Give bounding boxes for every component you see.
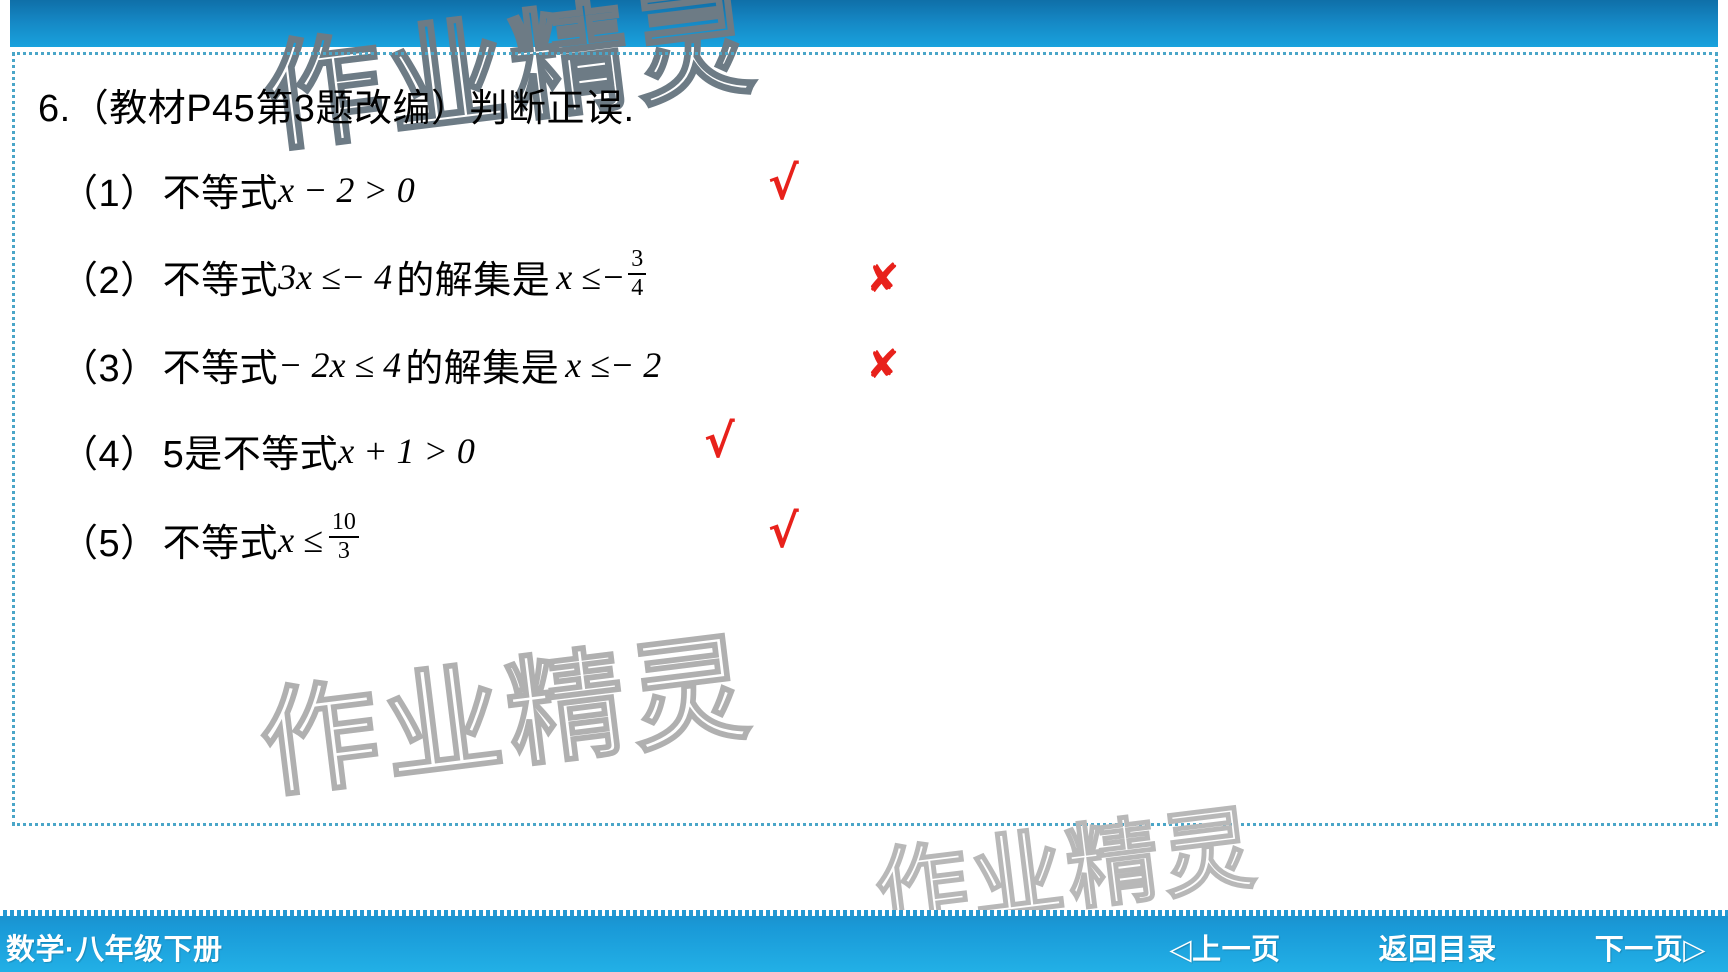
item-3-mark-cross-icon: ✘: [866, 342, 900, 388]
item-3-answer: x ≤− 2: [565, 344, 661, 386]
item-1-math: x − 2 > 0: [278, 169, 415, 211]
next-page-button[interactable]: 下一页▷: [1595, 926, 1706, 968]
item-5-chinese-before: 不等式: [163, 512, 279, 567]
item-3-label: （3）: [60, 337, 159, 392]
top-bar-left-edge: [0, 0, 10, 47]
item-4-mark-check-icon: √: [704, 414, 735, 468]
item-4-label: （4）: [60, 423, 159, 478]
item-1-chinese: 不等式: [163, 162, 279, 217]
item-1-mark-check-icon: √: [768, 156, 799, 210]
top-bar-right-edge: [1718, 0, 1728, 47]
item-2-answer: x ≤−: [556, 256, 625, 298]
item-4-chinese-before: 5是不等式: [163, 423, 339, 478]
back-to-toc-button[interactable]: 返回目录: [1379, 926, 1497, 968]
book-title: 数学·八年级下册: [6, 926, 223, 968]
item-2-chinese-after: 的解集是: [396, 249, 550, 304]
item-5-fraction-numerator: 10: [329, 510, 359, 536]
item-3-chinese-after: 的解集是: [405, 337, 559, 392]
item-3-chinese-before: 不等式: [163, 337, 279, 392]
item-5-math: x ≤: [278, 519, 323, 561]
question-item-3: （3） 不等式 − 2x ≤ 4 的解集是 x ≤− 2 ✘: [26, 322, 1718, 408]
bottom-navigation-bar: 数学·八年级下册 ◁上一页 返回目录 下一页▷: [0, 910, 1728, 972]
question-title: 6.（教材P45第3题改编）判断正误.: [26, 86, 1718, 134]
item-2-math: 3x ≤− 4: [278, 256, 392, 298]
slide-root: 作业精灵 6.（教材P45第3题改编）判断正误. （1） 不等式 x − 2 >…: [0, 0, 1728, 972]
item-2-mark-cross-icon: ✘: [866, 256, 900, 302]
question-item-1: （1） 不等式 x − 2 > 0 √: [26, 148, 1718, 232]
item-2-fraction-denominator: 4: [628, 273, 646, 302]
question-item-2: （2） 不等式 3x ≤− 4 的解集是 x ≤− 3 4 ✘: [26, 232, 1718, 322]
bottom-bar-dotted-edge: [0, 910, 1728, 916]
item-2-label: （2）: [60, 249, 159, 304]
question-item-5: （5） 不等式 x ≤ 10 3 √: [26, 494, 1718, 586]
top-header-bar: [0, 0, 1728, 47]
item-5-label: （5）: [60, 512, 159, 567]
item-5-mark-check-icon: √: [768, 504, 799, 558]
item-5-fraction-denominator: 3: [329, 536, 359, 565]
question-item-4: （4） 5是不等式 x + 1 > 0 √: [26, 408, 1718, 494]
item-5-fraction: 10 3: [329, 510, 359, 565]
item-2-fraction-numerator: 3: [628, 247, 646, 273]
item-4-math: x + 1 > 0: [338, 430, 475, 472]
item-3-math: − 2x ≤ 4: [278, 344, 401, 386]
prev-page-button[interactable]: ◁上一页: [1169, 926, 1280, 968]
item-1-label: （1）: [60, 162, 159, 217]
question-items-list: （1） 不等式 x − 2 > 0 √ （2） 不等式 3x ≤− 4 的解集是…: [26, 148, 1718, 586]
item-2-fraction: 3 4: [628, 247, 646, 302]
question-content: 6.（教材P45第3题改编）判断正误. （1） 不等式 x − 2 > 0 √ …: [12, 52, 1718, 826]
item-2-chinese-before: 不等式: [163, 249, 279, 304]
navigation-buttons: ◁上一页 返回目录 下一页▷: [1169, 926, 1706, 968]
